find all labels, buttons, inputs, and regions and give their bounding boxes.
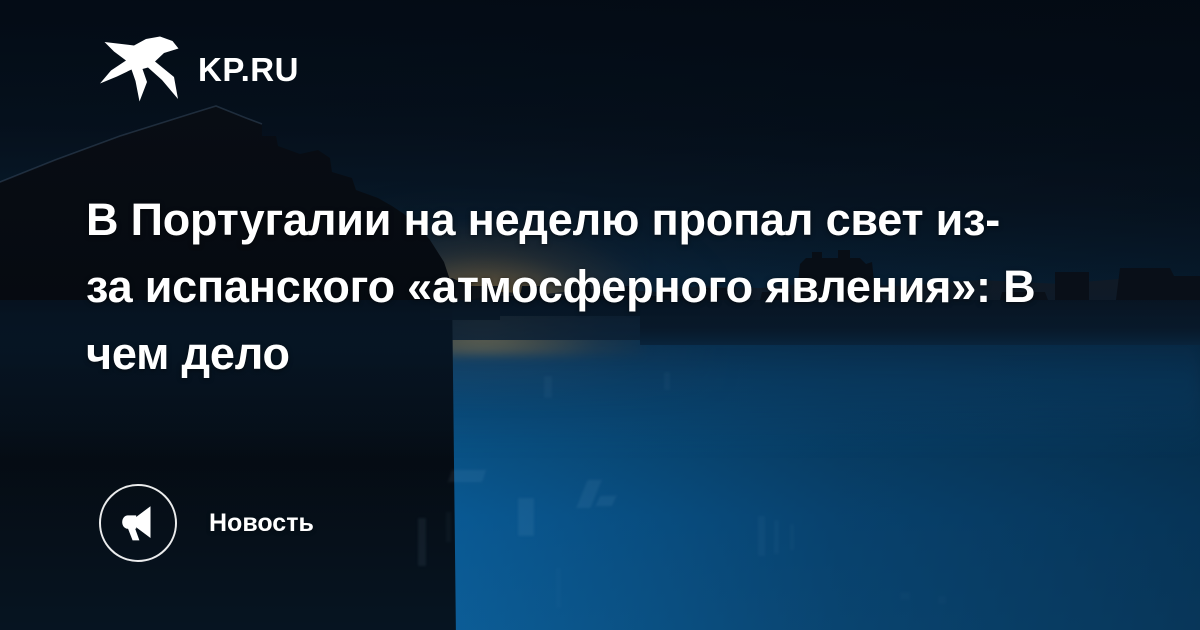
card-content: KP.RU В Португалии на неделю пропал свет… (0, 0, 1200, 630)
brand-name-text: KP.RU (198, 53, 299, 86)
brand-logo[interactable]: KP.RU (98, 36, 299, 102)
social-share-card: KP.RU В Португалии на неделю пропал свет… (0, 0, 1200, 630)
status-badge[interactable]: Новость (99, 484, 314, 562)
megaphone-icon (99, 484, 177, 562)
status-badge-label: Новость (209, 511, 314, 536)
page-title: В Португалии на неделю пропал свет из-за… (86, 186, 1046, 387)
swallow-bird-icon (98, 36, 182, 102)
